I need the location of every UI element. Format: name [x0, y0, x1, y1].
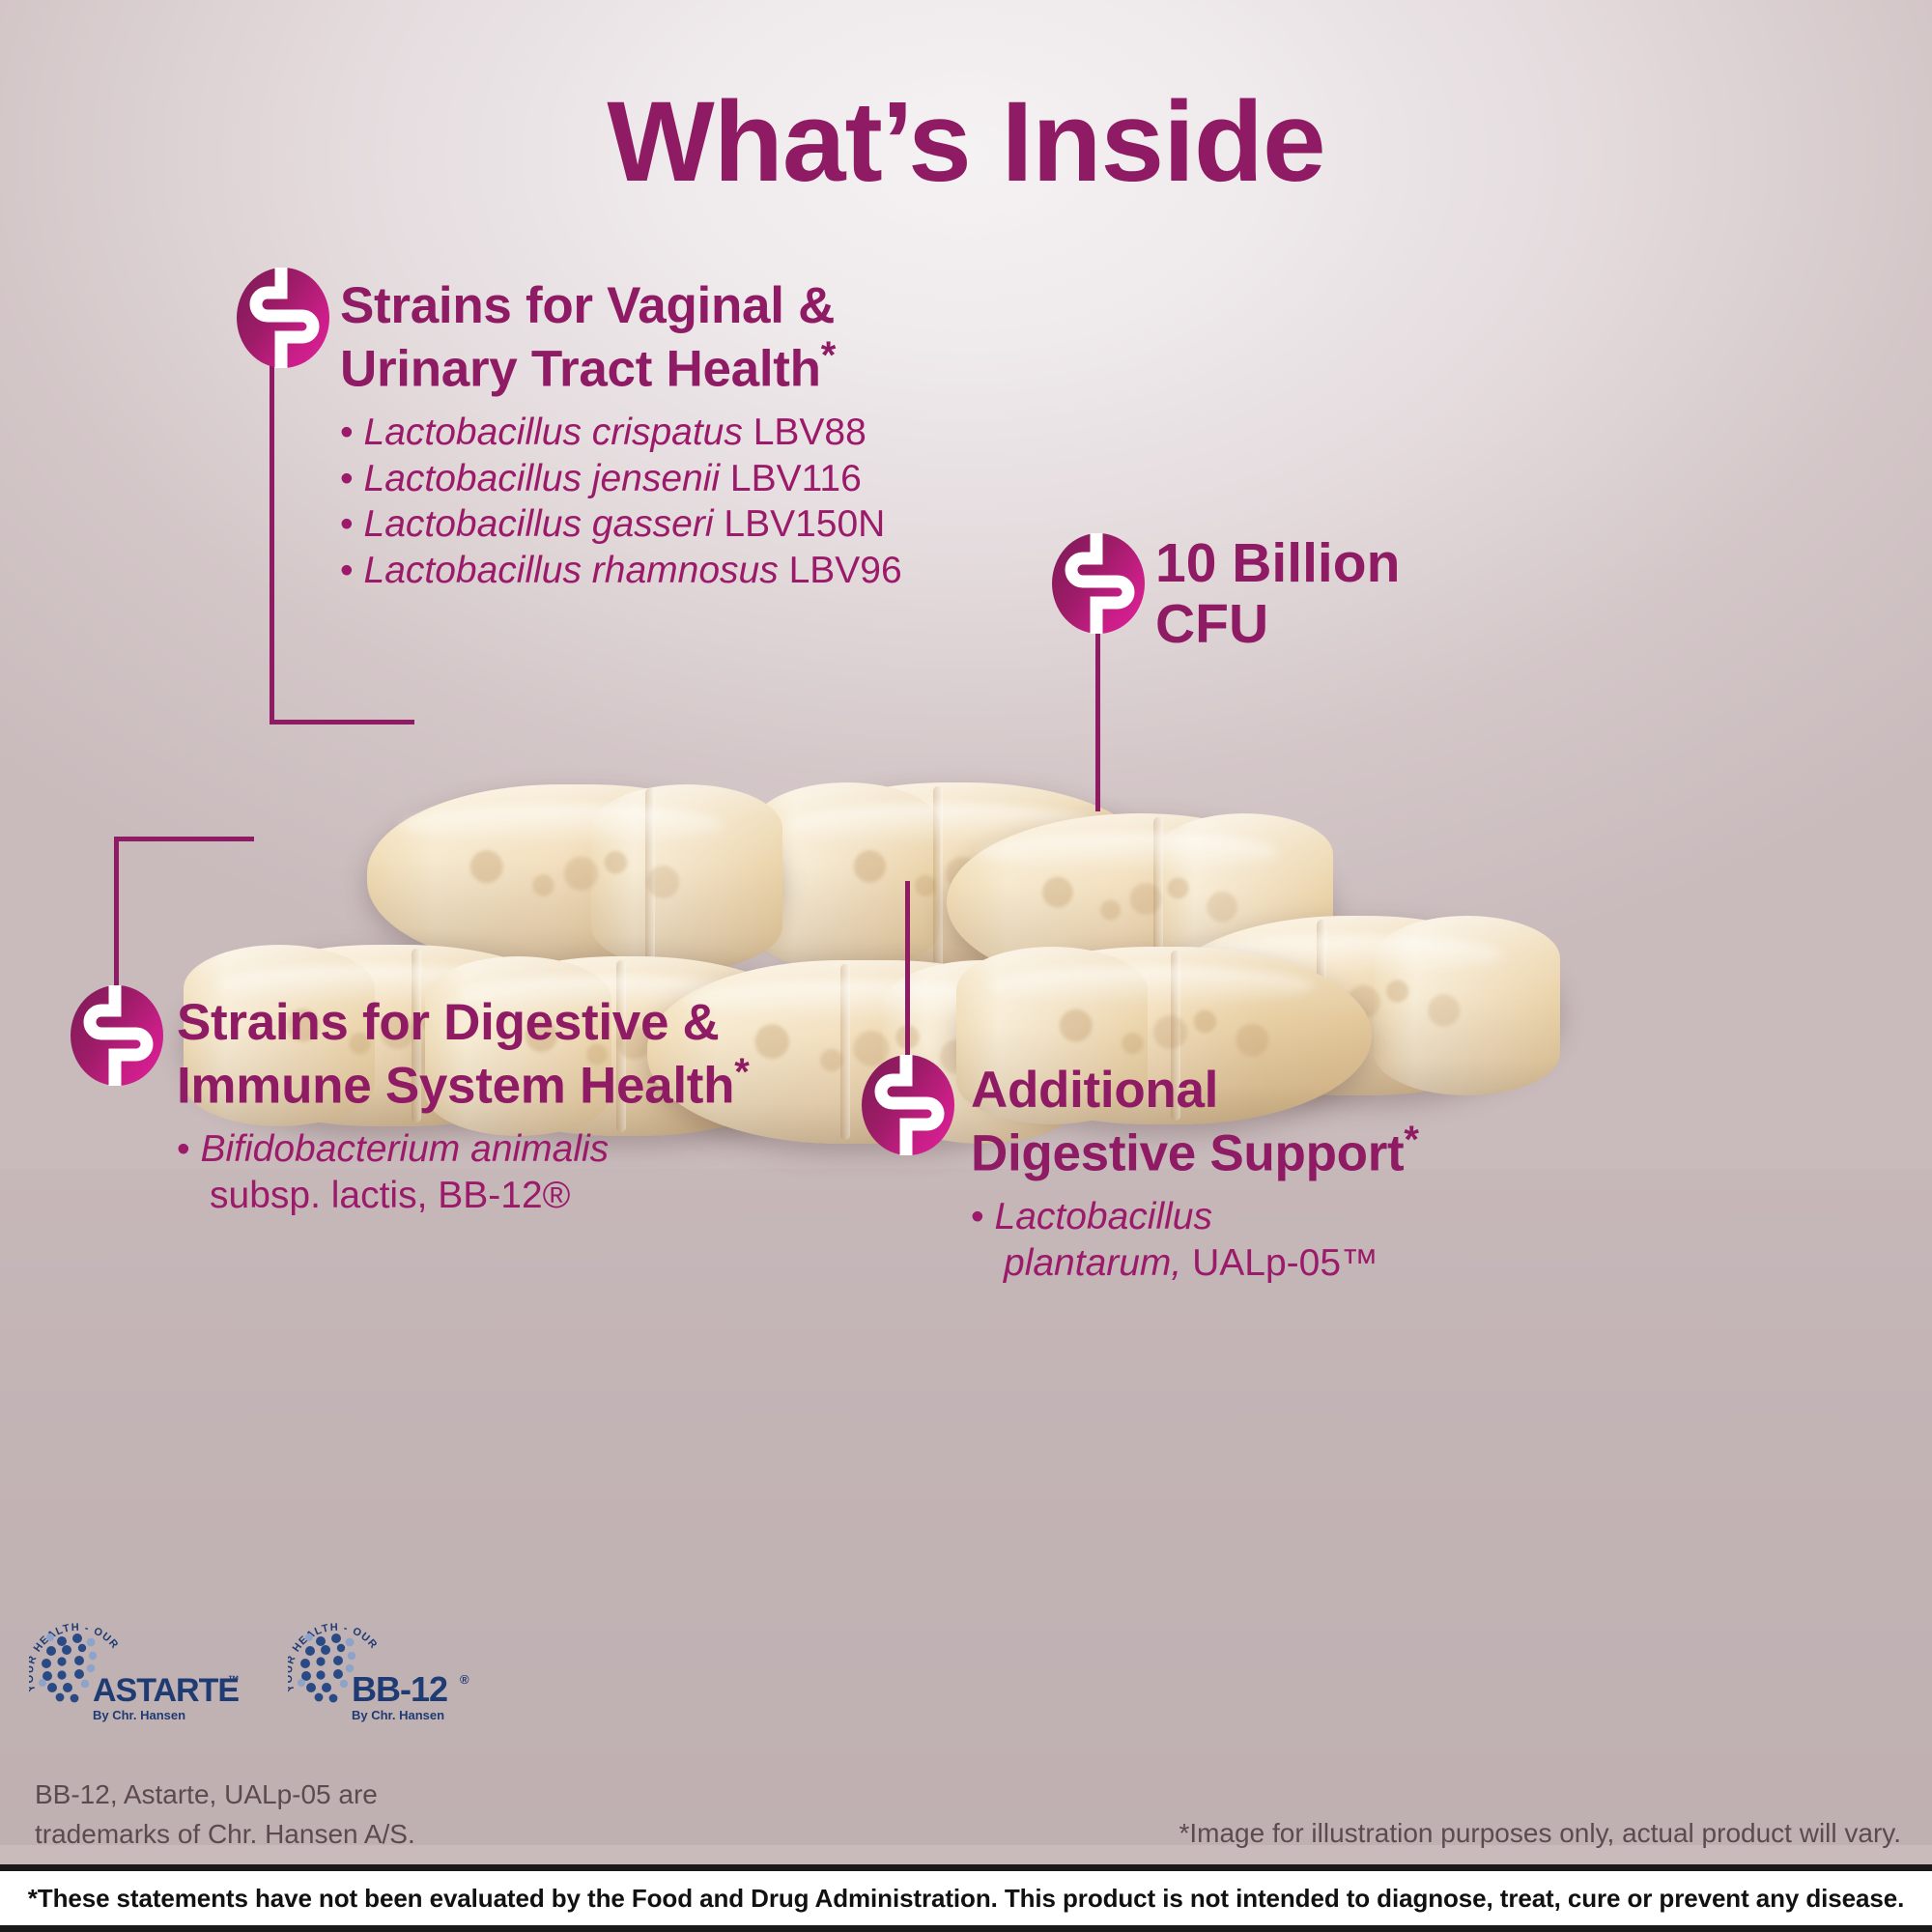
strain-code: LBV116	[730, 458, 862, 499]
page-title: What’s Inside	[0, 85, 1932, 199]
list-item: • Lactobacillus jensenii LBV116	[340, 456, 958, 502]
callout-additional-heading: Additional Digestive Support*	[971, 1063, 1647, 1182]
strain-species: Bifidobacterium animalis	[201, 1128, 610, 1170]
bullet: •	[177, 1128, 190, 1170]
leader-line-vaginal-horizontal	[270, 720, 414, 724]
leader-line-additional	[905, 881, 910, 1065]
callout-digestive-heading: Strains for Digestive & Immune System He…	[177, 995, 853, 1115]
infographic-stage: What’s Inside	[0, 0, 1932, 1932]
svg-text:BB-12: BB-12	[352, 1669, 447, 1709]
trademark-footnote: BB-12, Astarte, UALp-05 are trademarks o…	[35, 1776, 415, 1854]
astarte-logo: YOUR HEALTH - OUR SCIENCE ASTARTE ™	[29, 1618, 251, 1732]
bullet: •	[340, 550, 354, 591]
gut-icon-additional	[862, 1055, 954, 1155]
strain-code: LBV88	[753, 412, 867, 453]
svg-text:By Chr. Hansen: By Chr. Hansen	[352, 1708, 444, 1722]
trademark-line-2: trademarks of Chr. Hansen A/S.	[35, 1815, 415, 1855]
strain-species: Lactobacillus crispatus	[364, 412, 743, 453]
leader-line-digestive-vertical	[114, 837, 119, 1001]
svg-text:ASTARTE: ASTARTE	[93, 1672, 239, 1709]
strain-code: UALp-05™	[1192, 1242, 1378, 1284]
list-item: • Lactobacillus rhamnosus LBV96	[340, 548, 958, 594]
callout-additional-asterisk: *	[1404, 1119, 1418, 1161]
gut-icon-glyph	[71, 985, 163, 1086]
bb12-logo-mark: YOUR HEALTH - OUR SCIENCE BB-12 ®	[288, 1618, 510, 1732]
callout-vaginal-asterisk: *	[821, 334, 836, 377]
astarte-logo-mark: YOUR HEALTH - OUR SCIENCE ASTARTE ™	[29, 1618, 251, 1732]
bullet: •	[340, 412, 354, 453]
callout-additional-heading-line2: Digestive Support	[971, 1125, 1404, 1182]
callout-vaginal-heading-line1: Strains for Vaginal &	[340, 278, 958, 334]
strain-species: Lactobacillus rhamnosus	[364, 550, 779, 591]
partner-logos: YOUR HEALTH - OUR SCIENCE ASTARTE ™	[29, 1618, 510, 1732]
strain-subspecies: subsp. lactis, BB-12®	[210, 1175, 570, 1216]
callout-digestive-strain-list: • Bifidobacterium animalis subsp. lactis…	[177, 1126, 853, 1218]
list-item: • Lactobacillus crispatus LBV88	[340, 410, 958, 456]
strain-code: LBV96	[789, 550, 902, 591]
bullet: •	[340, 503, 354, 545]
capsule	[367, 784, 782, 970]
callout-additional-heading-line1: Additional	[971, 1063, 1647, 1119]
bullet: •	[971, 1196, 984, 1237]
gut-icon-glyph	[1052, 533, 1145, 634]
gut-icon-digestive	[71, 985, 163, 1086]
bb12-logo: YOUR HEALTH - OUR SCIENCE BB-12 ®	[288, 1618, 510, 1732]
illustration-footnote: *Image for illustration purposes only, a…	[1179, 1818, 1901, 1849]
leader-line-vaginal-vertical	[270, 338, 274, 724]
callout-digestive-heading-line1: Strains for Digestive &	[177, 995, 853, 1051]
callout-digestive-asterisk: *	[734, 1051, 749, 1094]
callout-digestive-heading-line2-wrap: Immune System Health*	[177, 1051, 853, 1115]
cfu-line2: CFU	[1155, 594, 1400, 655]
callout-vaginal-heading: Strains for Vaginal & Urinary Tract Heal…	[340, 278, 958, 398]
gut-icon-cfu	[1052, 533, 1145, 634]
fda-disclaimer-bar: *These statements have not been evaluate…	[0, 1864, 1932, 1932]
fda-disclaimer-text: *These statements have not been evaluate…	[28, 1884, 1904, 1914]
callout-vaginal-heading-line2-wrap: Urinary Tract Health*	[340, 334, 958, 398]
strain-code: LBV150N	[724, 503, 885, 545]
callout-cfu: 10 Billion CFU	[1155, 533, 1400, 654]
gut-icon-vaginal	[237, 268, 329, 368]
callout-digestive-immune: Strains for Digestive & Immune System He…	[177, 995, 853, 1218]
svg-text:By Chr. Hansen: By Chr. Hansen	[93, 1708, 185, 1722]
strain-species: Lactobacillus jensenii	[364, 458, 721, 499]
callout-additional-strain-list: • Lactobacillus plantarum, UALp-05™	[971, 1194, 1647, 1286]
gut-icon-glyph	[862, 1055, 954, 1155]
list-item: • Bifidobacterium animalis	[177, 1126, 853, 1173]
strain-genus: Lactobacillus	[995, 1196, 1212, 1237]
svg-text:®: ®	[460, 1672, 469, 1687]
leader-line-cfu	[1095, 618, 1100, 811]
strain-species: plantarum,	[1004, 1242, 1181, 1284]
cfu-line1: 10 Billion	[1155, 533, 1400, 594]
callout-vaginal-heading-line2: Urinary Tract Health	[340, 341, 821, 398]
svg-text:™: ™	[228, 1673, 240, 1687]
callout-digestive-heading-line2: Immune System Health	[177, 1058, 734, 1115]
trademark-line-1: BB-12, Astarte, UALp-05 are	[35, 1776, 415, 1815]
list-item: plantarum, UALp-05™	[971, 1240, 1647, 1287]
callout-additional-support: Additional Digestive Support* • Lactobac…	[971, 1063, 1647, 1286]
callout-vaginal-urinary: Strains for Vaginal & Urinary Tract Heal…	[340, 278, 958, 594]
callout-additional-heading-line2-wrap: Digestive Support*	[971, 1119, 1647, 1182]
list-item: subsp. lactis, BB-12®	[177, 1173, 853, 1219]
list-item: • Lactobacillus gasseri LBV150N	[340, 501, 958, 548]
strain-species: Lactobacillus gasseri	[364, 503, 714, 545]
callout-vaginal-strain-list: • Lactobacillus crispatus LBV88 • Lactob…	[340, 410, 958, 593]
list-item: • Lactobacillus	[971, 1194, 1647, 1240]
gut-icon-glyph	[237, 268, 329, 368]
leader-line-digestive-horizontal	[114, 837, 254, 841]
bullet: •	[340, 458, 354, 499]
